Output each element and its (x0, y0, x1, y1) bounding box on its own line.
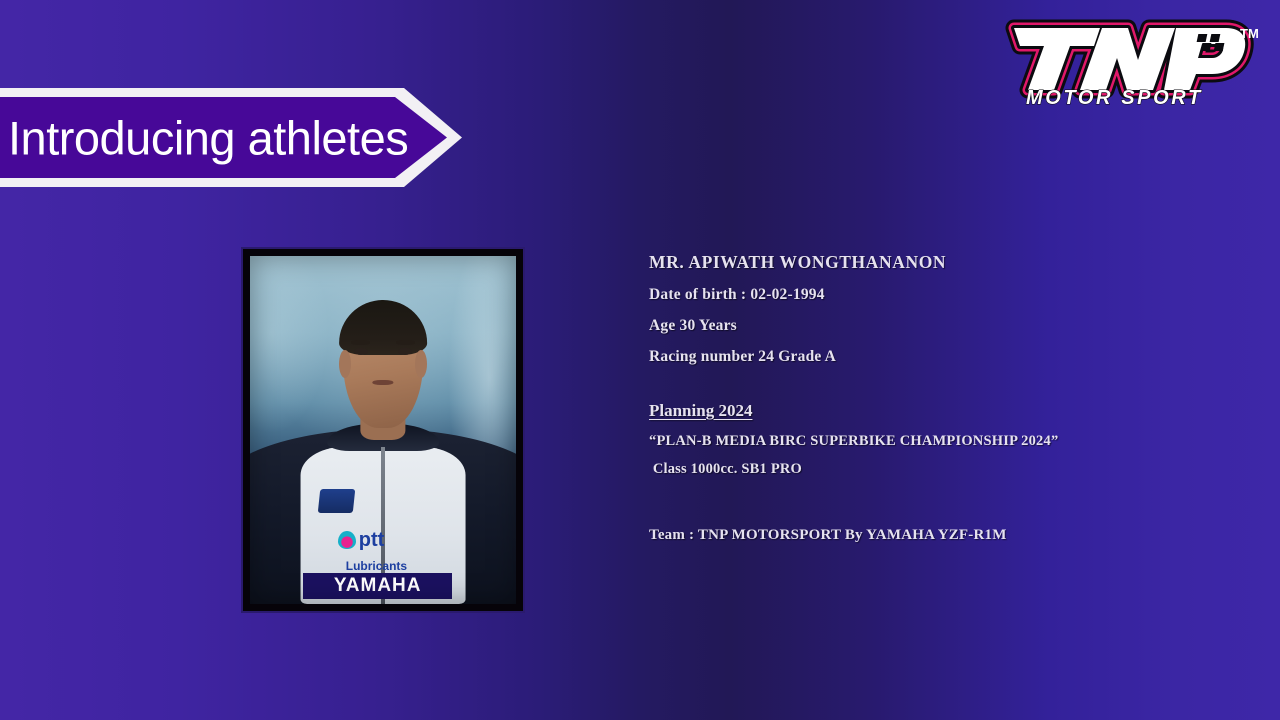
championship-class: Class 1000cc. SB1 PRO (649, 461, 1209, 478)
trademark-mark: TM (1240, 26, 1259, 41)
title-banner: Introducing athletes (0, 88, 462, 187)
info-spacer (649, 379, 1209, 401)
athlete-photo-frame: ptt Lubricants YAMAHA (241, 247, 525, 613)
logo-tagline: MOTOR SPORT (1026, 87, 1203, 108)
page-title: Introducing athletes (8, 114, 408, 161)
photo-vignette (250, 256, 516, 604)
athlete-racing-number: Racing number 24 Grade A (649, 348, 1209, 366)
tnp-motorsport-logo: TM MOTOR SPORT (1004, 12, 1262, 108)
athlete-date-of-birth: Date of birth : 02-02-1994 (649, 286, 1209, 304)
athlete-portrait-image: ptt Lubricants YAMAHA (250, 256, 516, 604)
athlete-team: Team : TNP MOTORSPORT By YAMAHA YZF-R1M (649, 527, 1209, 544)
athlete-info-block: MR. APIWATH WONGTHANANON Date of birth :… (649, 252, 1209, 544)
athlete-name: MR. APIWATH WONGTHANANON (649, 252, 1209, 273)
slide-canvas: Introducing athletes (0, 0, 1280, 720)
championship-title: “PLAN-B MEDIA BIRC SUPERBIKE CHAMPIONSHI… (649, 433, 1209, 450)
athlete-age: Age 30 Years (649, 317, 1209, 335)
photo-mat: ptt Lubricants YAMAHA (243, 249, 523, 611)
planning-heading: Planning 2024 (649, 401, 1209, 421)
